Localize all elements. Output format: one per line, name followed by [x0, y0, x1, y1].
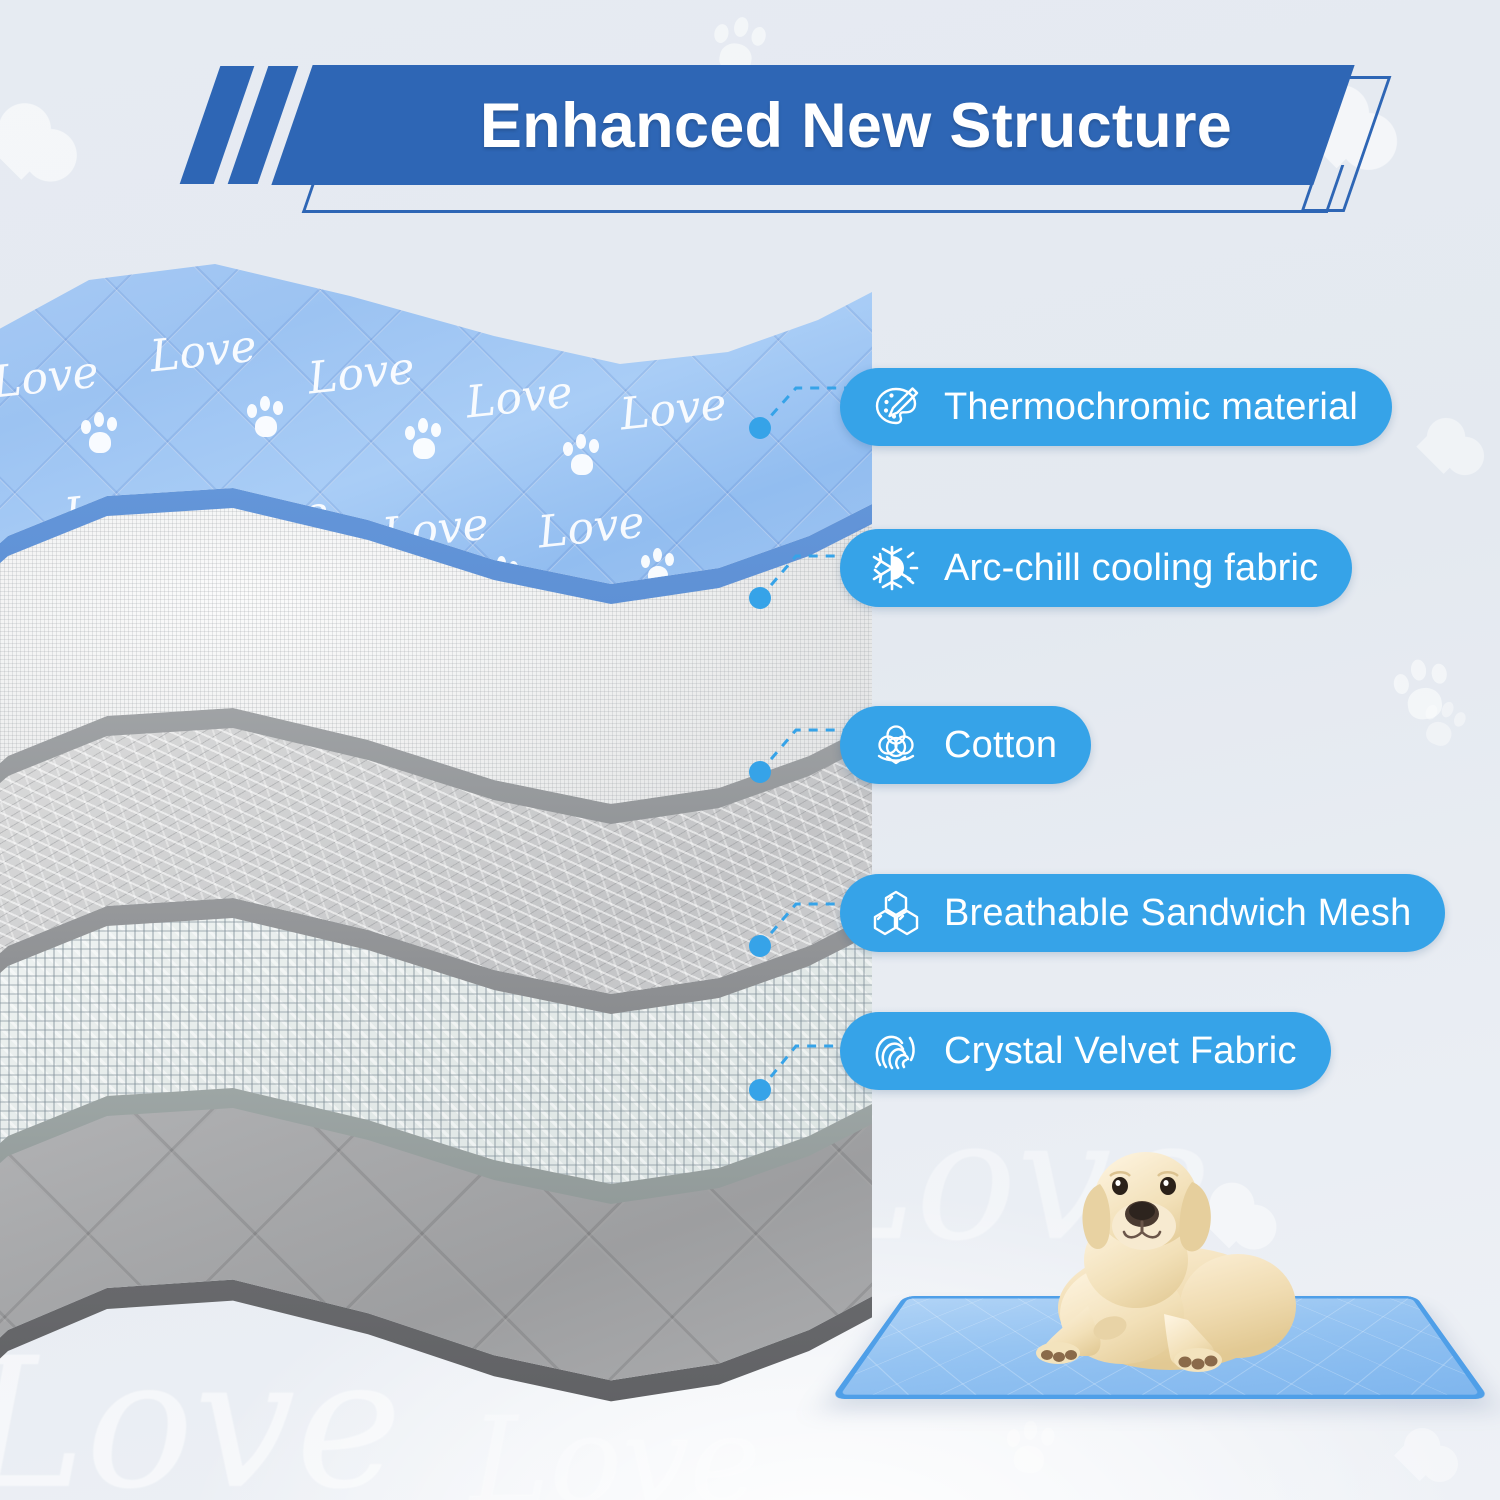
callout-thermochromic-material[interactable]: Thermochromic material [840, 368, 1392, 446]
love-motif: Love [148, 321, 259, 383]
fabric-layer-thermochromic: Love Love Love Love Love Love Love Love … [0, 256, 872, 656]
fabric-layer-stack: Love Love Love Love Love Love Love Love … [0, 236, 872, 1436]
callout-arc-chill-cooling-fabric[interactable]: Arc-chill cooling fabric [840, 529, 1352, 607]
labrador-puppy-illustration [1002, 1138, 1332, 1398]
callout-label: Thermochromic material [944, 388, 1358, 426]
title-banner: Enhanced New Structure [196, 52, 1366, 224]
palette-icon [870, 381, 922, 433]
paw-motif [404, 418, 444, 462]
heart-watermark [0, 106, 74, 202]
love-motif: Love [464, 367, 575, 429]
paw-motif [562, 434, 602, 478]
callout-cotton[interactable]: Cotton [840, 706, 1091, 784]
honeycomb-icon [870, 887, 922, 939]
page-title: Enhanced New Structure [346, 78, 1366, 174]
paw-motif [80, 412, 120, 456]
callout-breathable-sandwich-mesh[interactable]: Breathable Sandwich Mesh [840, 874, 1445, 952]
paw-motif [162, 524, 198, 564]
paw-motif [246, 396, 286, 440]
product-photo [852, 1130, 1462, 1460]
cotton-boll-icon [870, 719, 922, 771]
infographic-canvas: Love Love Love Enhanced New Structure [0, 0, 1500, 1500]
snowflake-sun-icon [870, 542, 922, 594]
heart-watermark [1412, 420, 1482, 490]
love-motif: Love [306, 343, 417, 405]
love-motif: Love [536, 497, 647, 559]
velvet-swirl-icon [870, 1025, 922, 1077]
callout-crystal-velvet-fabric[interactable]: Crystal Velvet Fabric [840, 1012, 1331, 1090]
callout-label: Breathable Sandwich Mesh [944, 894, 1411, 932]
love-motif: Love [0, 347, 101, 409]
callout-label: Crystal Velvet Fabric [944, 1032, 1297, 1070]
paw-motif [324, 542, 360, 582]
callout-label: Arc-chill cooling fabric [944, 549, 1318, 587]
callout-label: Cotton [944, 726, 1057, 764]
love-motif: Love [618, 379, 729, 441]
